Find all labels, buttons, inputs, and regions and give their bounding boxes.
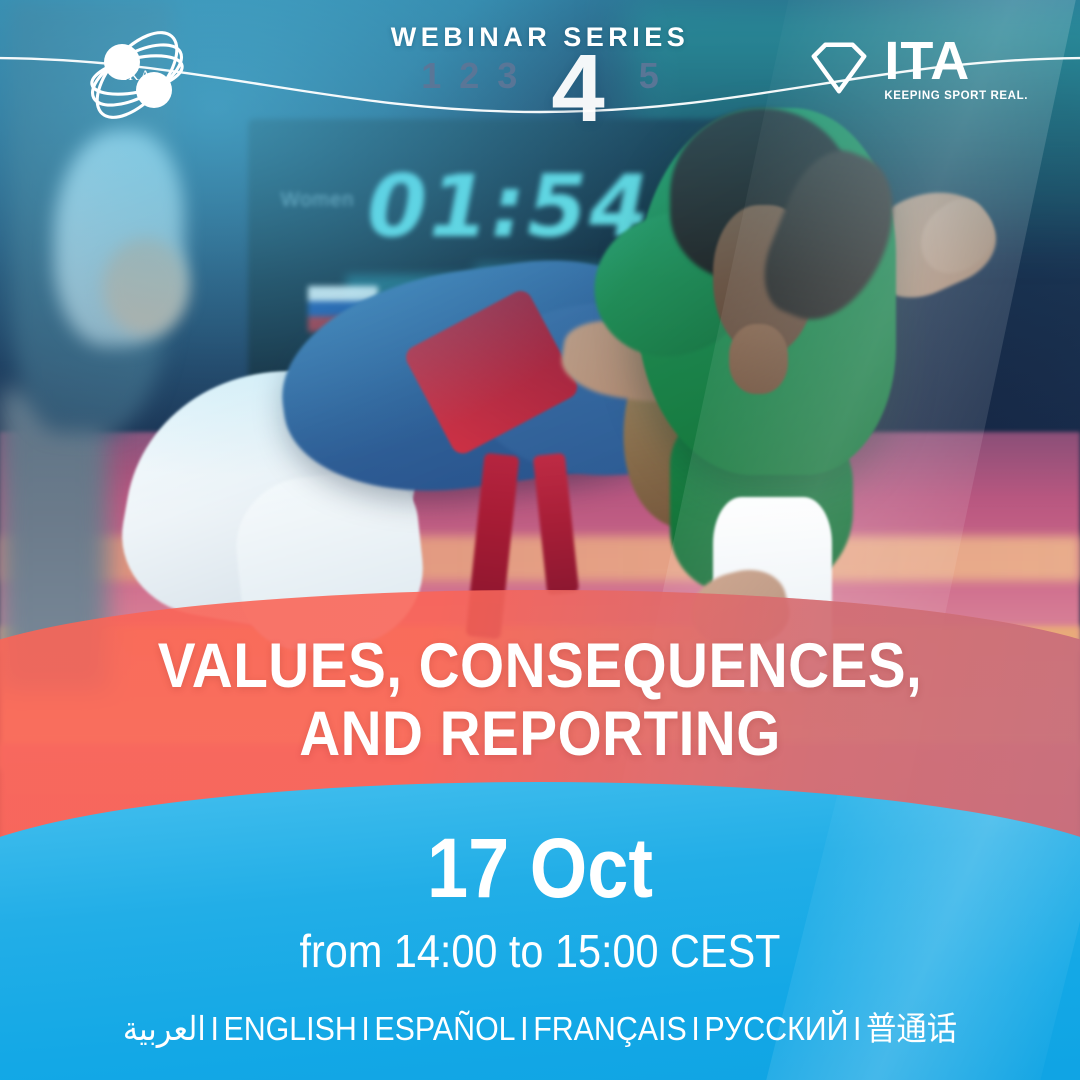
- scoreboard-time: 01:54: [367, 157, 651, 257]
- scoreboard-label: Women: [281, 189, 355, 212]
- event-date: 17 Oct: [65, 826, 1015, 910]
- language-item[interactable]: العربية: [123, 1010, 206, 1047]
- episode-number-list: 1 2 3 4 5: [0, 58, 1080, 129]
- language-separator: I: [848, 1010, 866, 1047]
- language-separator: I: [516, 1010, 534, 1047]
- episode-number-4-active[interactable]: 4: [551, 50, 604, 129]
- language-item[interactable]: FRANÇAIS: [533, 1010, 687, 1047]
- series-label: WEBINAR SERIES: [0, 22, 1080, 53]
- referee-hand: [103, 238, 189, 335]
- page-title: VALUES, CONSEQUENCES, AND REPORTING: [54, 632, 1026, 768]
- page-title-line-1: VALUES, CONSEQUENCES,: [54, 632, 1026, 700]
- language-item[interactable]: РУССКИЙ: [704, 1010, 848, 1047]
- language-list: العربيةIENGLISHIESPAÑOLIFRANÇAISIРУССКИЙ…: [43, 1008, 1037, 1049]
- episode-number-5[interactable]: 5: [639, 58, 659, 94]
- language-item[interactable]: ESPAÑOL: [374, 1010, 515, 1047]
- episode-number-3[interactable]: 3: [497, 58, 517, 94]
- language-item[interactable]: ENGLISH: [223, 1010, 356, 1047]
- header: IKA ITA KEEPING SPORT REAL. WEBINAR SERI…: [0, 0, 1080, 160]
- language-separator: I: [357, 1010, 375, 1047]
- athlete-green-hand: [729, 324, 788, 394]
- episode-number-2[interactable]: 2: [459, 58, 479, 94]
- episode-number-1[interactable]: 1: [421, 58, 441, 94]
- page-title-line-2: AND REPORTING: [54, 700, 1026, 768]
- event-time: from 14:00 to 15:00 CEST: [54, 928, 1026, 974]
- language-separator: I: [206, 1010, 224, 1047]
- language-separator: I: [687, 1010, 705, 1047]
- webinar-poster: Women 01:54: [0, 0, 1080, 1080]
- language-item[interactable]: 普通话: [866, 1010, 957, 1047]
